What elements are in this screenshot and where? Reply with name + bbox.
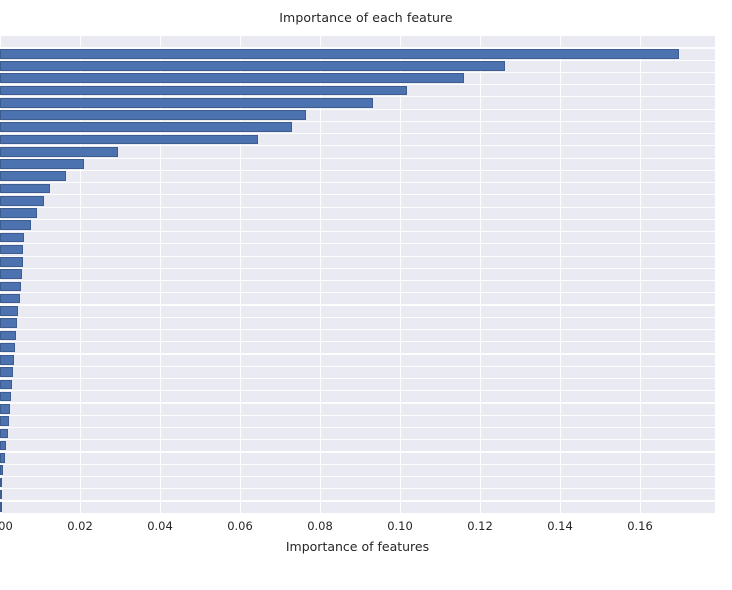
horizontal-gridline xyxy=(0,390,715,391)
horizontal-gridline xyxy=(0,329,715,330)
vertical-gridline xyxy=(560,36,561,513)
bar[interactable] xyxy=(0,392,11,402)
bar[interactable] xyxy=(0,429,8,439)
horizontal-gridline xyxy=(0,219,715,220)
bar[interactable] xyxy=(0,159,84,169)
bar[interactable] xyxy=(0,404,10,414)
bar[interactable] xyxy=(0,220,31,230)
bar[interactable] xyxy=(0,306,18,316)
x-axis-tick-labels: 0.000.020.040.060.080.100.120.140.16 xyxy=(0,513,732,537)
vertical-gridline xyxy=(160,36,161,513)
horizontal-gridline xyxy=(0,415,715,416)
bar[interactable] xyxy=(0,98,373,108)
horizontal-gridline xyxy=(0,317,715,318)
bar[interactable] xyxy=(0,257,23,267)
bar[interactable] xyxy=(0,355,14,365)
bar[interactable] xyxy=(0,331,16,341)
bar[interactable] xyxy=(0,184,50,194)
vertical-gridline xyxy=(400,36,401,513)
bar[interactable] xyxy=(0,269,22,279)
x-tick-label: 0.08 xyxy=(307,519,333,533)
x-tick-label: 0.14 xyxy=(547,519,573,533)
horizontal-gridline xyxy=(0,194,715,195)
horizontal-gridline xyxy=(0,451,715,452)
x-axis-label: Importance of features xyxy=(0,539,715,554)
x-tick-label: 0.16 xyxy=(627,519,653,533)
bar[interactable] xyxy=(0,86,407,96)
horizontal-gridline xyxy=(0,366,715,367)
vertical-gridline xyxy=(480,36,481,513)
chart-title: Importance of each feature xyxy=(0,10,732,25)
horizontal-gridline xyxy=(0,378,715,379)
plot-area xyxy=(0,36,715,513)
bar[interactable] xyxy=(0,122,292,132)
horizontal-gridline xyxy=(0,500,715,501)
bar[interactable] xyxy=(0,294,20,304)
vertical-gridline xyxy=(240,36,241,513)
bar[interactable] xyxy=(0,318,17,328)
x-tick-label: 0.12 xyxy=(467,519,493,533)
bar[interactable] xyxy=(0,478,2,488)
horizontal-gridline xyxy=(0,476,715,477)
figure-canvas: Importance of each feature 0.000.020.040… xyxy=(0,0,732,590)
bar[interactable] xyxy=(0,147,118,157)
bar[interactable] xyxy=(0,110,306,120)
horizontal-gridline xyxy=(0,304,715,305)
horizontal-gridline xyxy=(0,341,715,342)
bar[interactable] xyxy=(0,245,23,255)
horizontal-gridline xyxy=(0,439,715,440)
bar[interactable] xyxy=(0,282,21,292)
horizontal-gridline xyxy=(0,280,715,281)
bar[interactable] xyxy=(0,49,679,59)
horizontal-gridline xyxy=(0,207,715,208)
bar[interactable] xyxy=(0,208,37,218)
bar[interactable] xyxy=(0,343,15,353)
bar[interactable] xyxy=(0,61,505,71)
bar[interactable] xyxy=(0,490,2,500)
bar[interactable] xyxy=(0,196,44,206)
x-tick-label: 0.10 xyxy=(387,519,413,533)
bar[interactable] xyxy=(0,453,5,463)
horizontal-gridline xyxy=(0,427,715,428)
bar[interactable] xyxy=(0,502,2,512)
horizontal-gridline xyxy=(0,402,715,403)
bar[interactable] xyxy=(0,380,12,390)
bar[interactable] xyxy=(0,441,6,451)
horizontal-gridline xyxy=(0,243,715,244)
x-tick-label: 0.04 xyxy=(147,519,173,533)
bar[interactable] xyxy=(0,73,464,83)
horizontal-gridline xyxy=(0,182,715,183)
horizontal-gridline xyxy=(0,268,715,269)
horizontal-gridline xyxy=(0,292,715,293)
horizontal-gridline xyxy=(0,464,715,465)
horizontal-gridline xyxy=(0,231,715,232)
bar[interactable] xyxy=(0,171,66,181)
x-tick-label: 0.02 xyxy=(67,519,93,533)
bar[interactable] xyxy=(0,233,24,243)
vertical-gridline xyxy=(80,36,81,513)
bar[interactable] xyxy=(0,465,3,475)
horizontal-gridline xyxy=(0,158,715,159)
vertical-gridline xyxy=(640,36,641,513)
vertical-gridline xyxy=(320,36,321,513)
x-tick-label: 0.00 xyxy=(0,519,13,533)
horizontal-gridline xyxy=(0,170,715,171)
horizontal-gridline xyxy=(0,488,715,489)
horizontal-gridline xyxy=(0,353,715,354)
bar[interactable] xyxy=(0,135,258,145)
bar[interactable] xyxy=(0,367,13,377)
x-tick-label: 0.06 xyxy=(227,519,253,533)
horizontal-gridline xyxy=(0,256,715,257)
bar[interactable] xyxy=(0,416,9,426)
